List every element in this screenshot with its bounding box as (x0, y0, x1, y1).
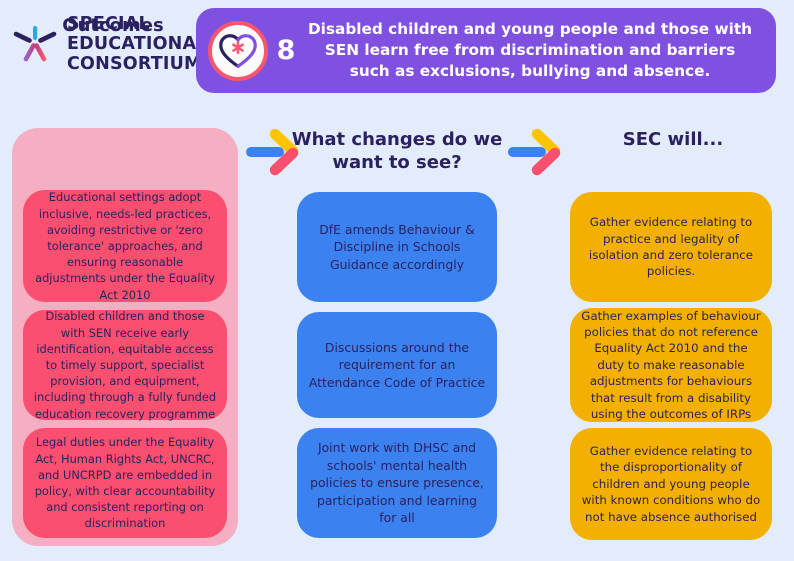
change-card-3: Joint work with DHSC and schools' mental… (297, 428, 497, 538)
sec-card-1: Gather evidence relating to practice and… (570, 192, 772, 302)
sec-card-3: Gather evidence relating to the dispropo… (570, 428, 772, 540)
change-card-1: DfE amends Behaviour & Discipline in Sch… (297, 192, 497, 302)
statement-banner: 8 Disabled children and young people and… (196, 8, 776, 93)
statement-text: Disabled children and young people and t… (304, 19, 762, 82)
statement-number: 8 (268, 35, 304, 66)
outcomes-column-title: Outcomes (0, 14, 226, 37)
outcome-card-2: Disabled children and those with SEN rec… (23, 310, 227, 420)
sec-card-2: Gather examples of behaviour policies th… (570, 308, 772, 422)
sec-column-title: SEC will... (562, 128, 784, 151)
outcome-card-1: Educational settings adopt inclusive, ne… (23, 190, 227, 302)
brand-name-line-2: EDUCATIONAL (67, 34, 208, 54)
outcome-card-3: Legal duties under the Equality Act, Hum… (23, 428, 227, 538)
changes-column-title: What changes do we want to see? (286, 128, 508, 174)
change-card-2: Discussions around the requirement for a… (297, 312, 497, 418)
brand-name-line-3: CONSORTIUM (67, 54, 202, 74)
right-arrow-icon (508, 126, 566, 178)
